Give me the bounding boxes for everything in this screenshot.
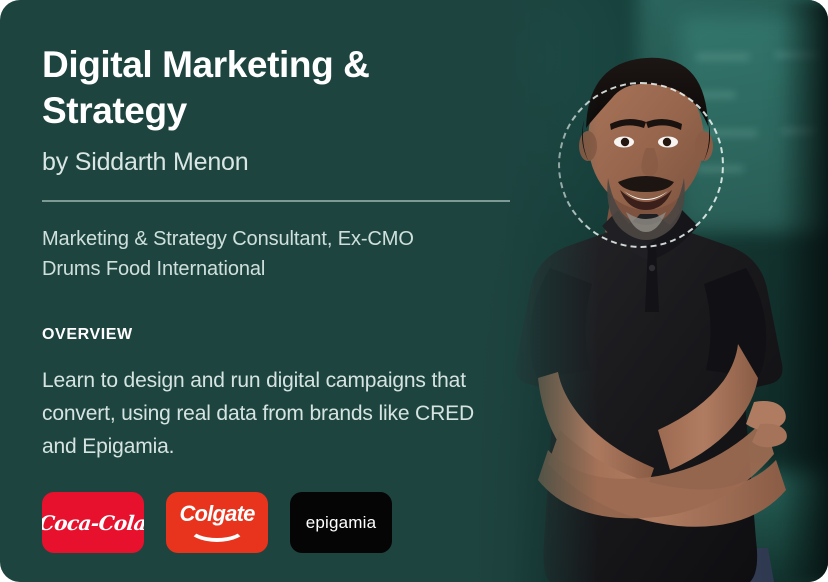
instructor-role-line-1: Marketing & Strategy Consultant, Ex-CMO bbox=[42, 228, 414, 250]
course-card: Digital Marketing & Strategy by Siddarth… bbox=[0, 0, 828, 582]
head-highlight-ring-icon bbox=[558, 82, 724, 248]
brand-logo-coca-cola: Coca-Cola bbox=[42, 492, 144, 553]
course-content: Digital Marketing & Strategy by Siddarth… bbox=[42, 0, 522, 582]
brand-logo-epigamia: epigamia bbox=[290, 492, 392, 553]
instructor-role: Marketing & Strategy Consultant, Ex-CMO … bbox=[42, 202, 522, 284]
coca-cola-wordmark: Coca-Cola bbox=[42, 511, 144, 535]
instructor-role-line-2: Drums Food International bbox=[42, 254, 522, 284]
overview-heading: OVERVIEW bbox=[42, 284, 522, 345]
colgate-smile-icon bbox=[188, 528, 246, 542]
instructor-photo-pane bbox=[468, 0, 828, 582]
page-title: Digital Marketing & Strategy bbox=[42, 0, 522, 134]
colgate-wordmark: Colgate bbox=[179, 503, 254, 525]
brand-logo-colgate: Colgate bbox=[166, 492, 268, 553]
colgate-lockup: Colgate bbox=[179, 503, 254, 542]
brand-logo-list: Coca-Cola Colgate epigamia bbox=[42, 492, 392, 553]
divider bbox=[42, 200, 510, 202]
epigamia-wordmark: epigamia bbox=[306, 513, 377, 533]
overview-text: Learn to design and run digital campaign… bbox=[42, 345, 512, 463]
instructor-byline: by Siddarth Menon bbox=[42, 134, 522, 178]
